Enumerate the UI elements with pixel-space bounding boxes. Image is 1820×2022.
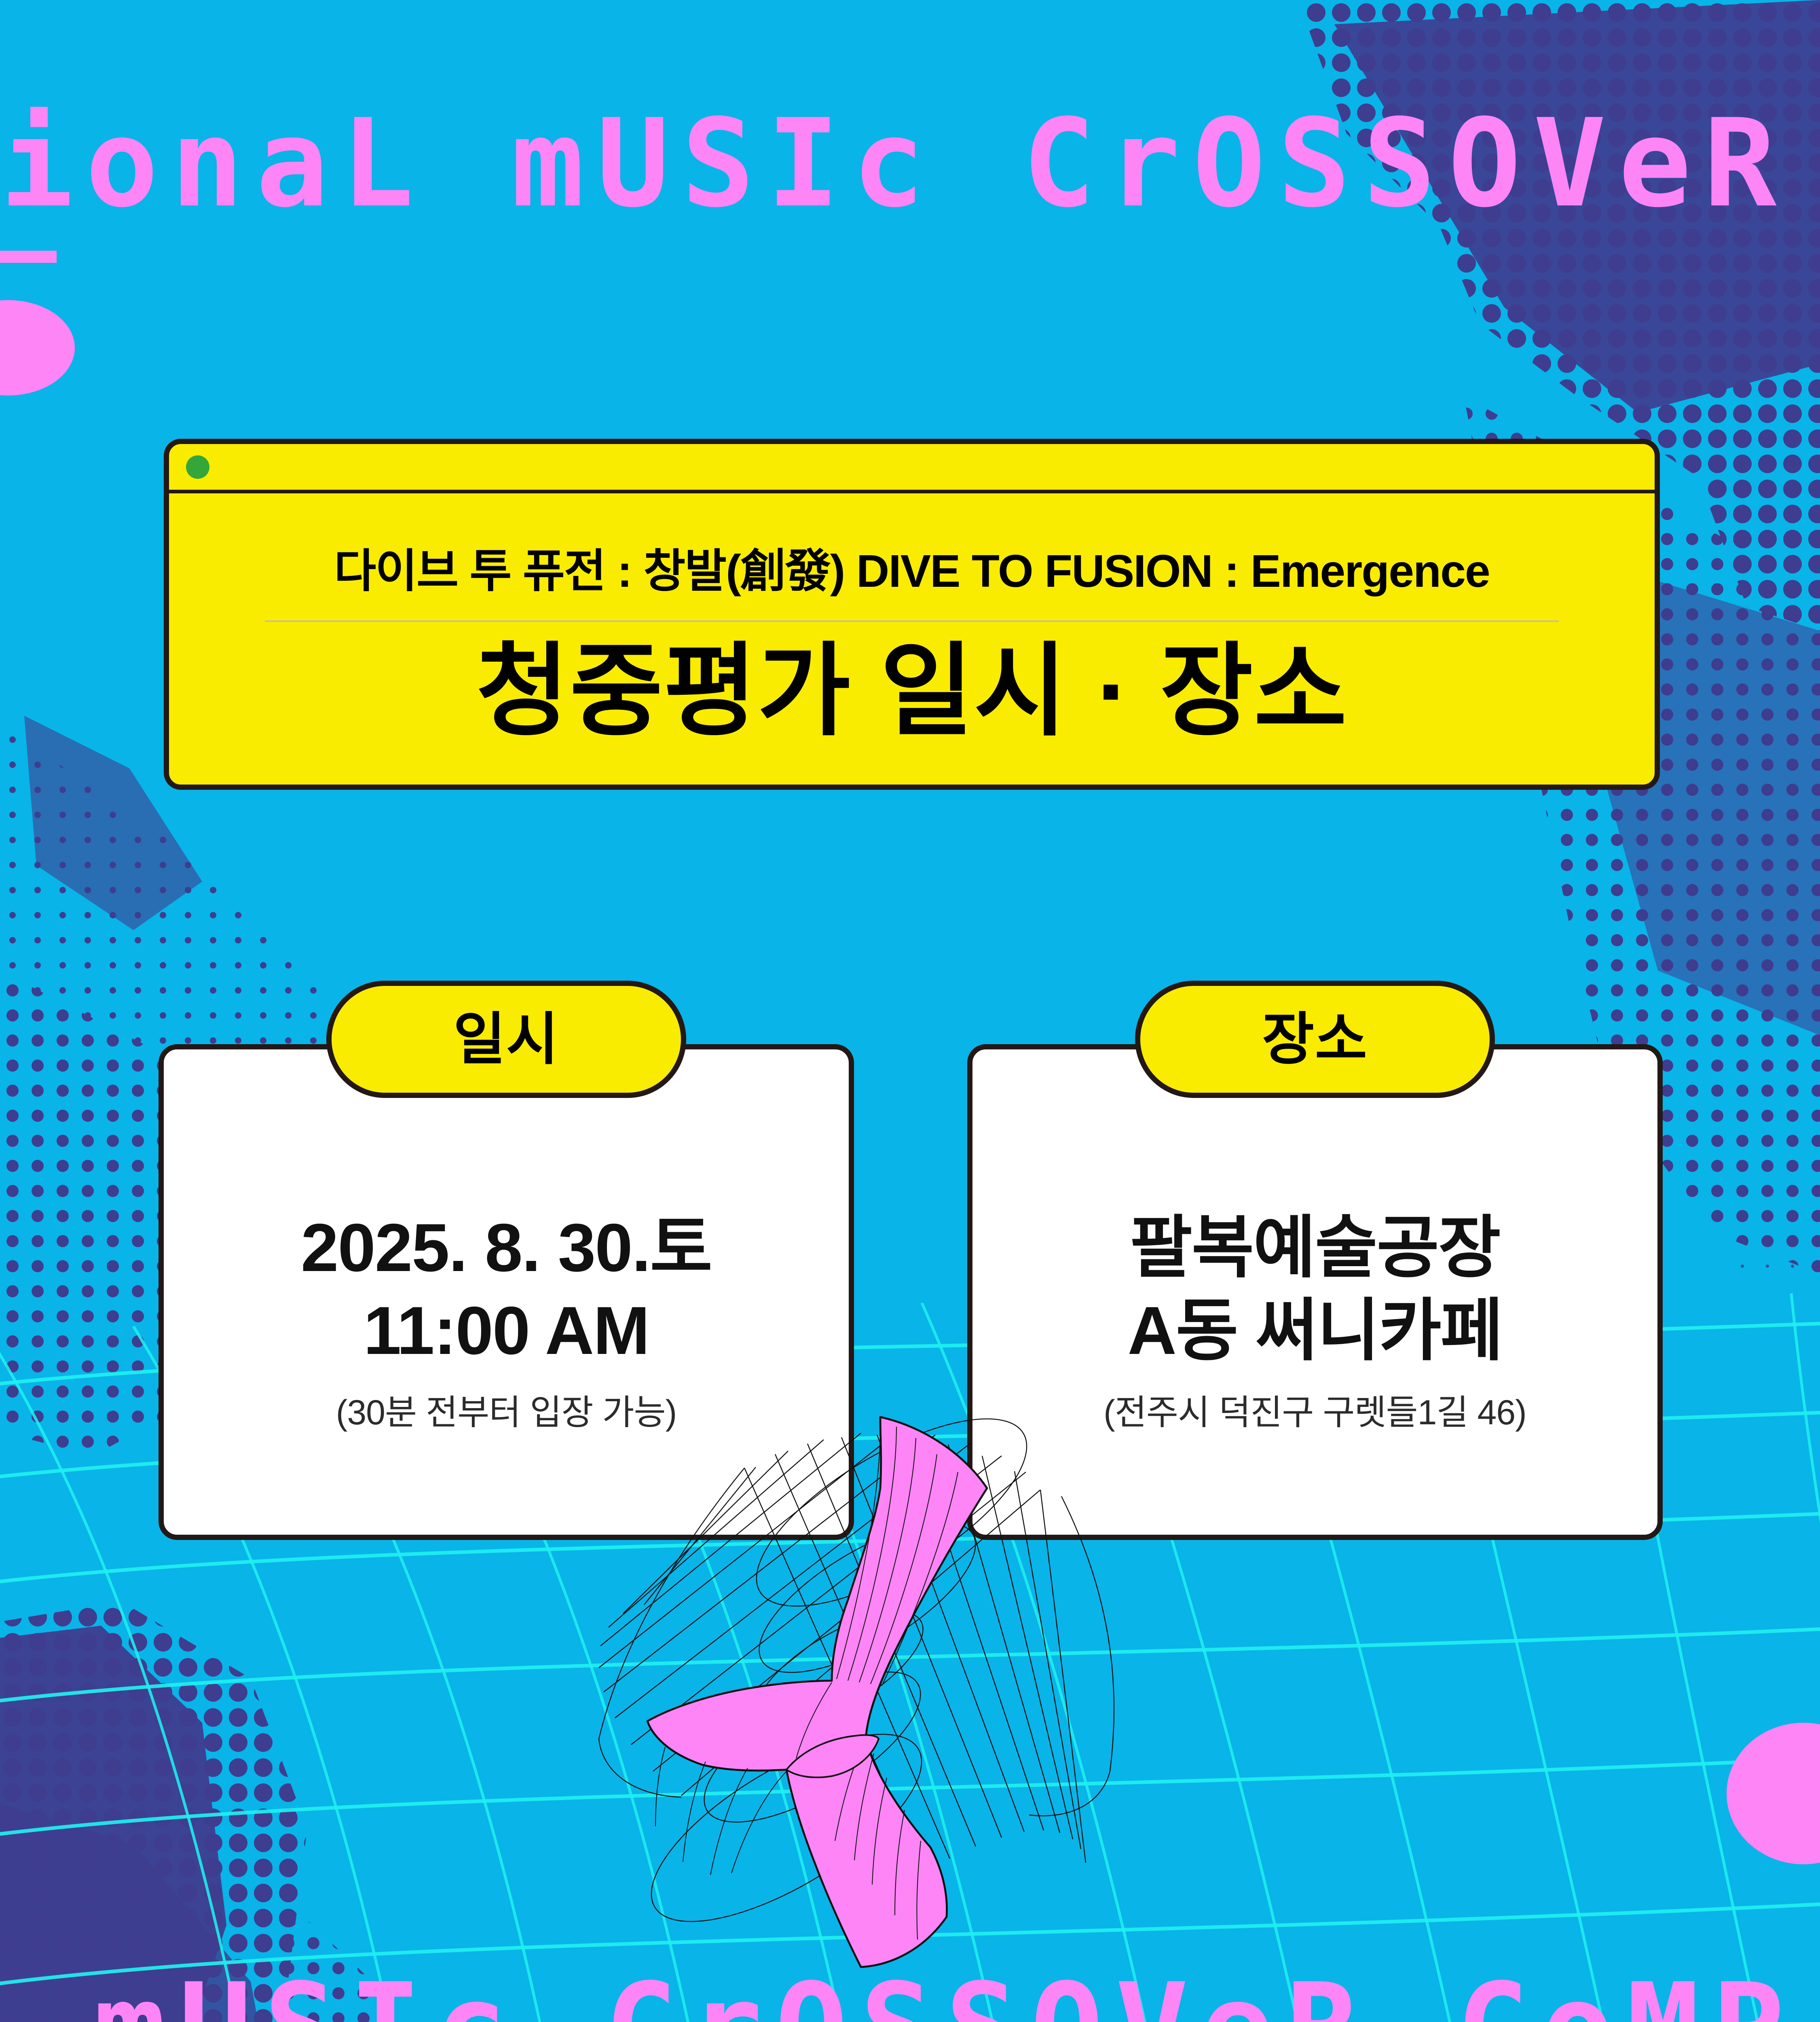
header-subtitle: 다이브 투 퓨전 : 창발(創發) DIVE TO FUSION : Emerg… xyxy=(334,534,1490,600)
tab-venue-label: 장소 xyxy=(1262,1011,1368,1068)
venue-note: (전주시 덕진구 구렛들1길 46) xyxy=(1103,1384,1526,1434)
header-card: 다이브 투 퓨전 : 창발(創發) DIVE TO FUSION : Emerg… xyxy=(164,439,1660,790)
page-title: 청중평가 일시 · 장소 xyxy=(476,638,1348,745)
date-line-1: 2025. 8. 30.토 xyxy=(301,1206,712,1289)
venue-line-1: 팔복예술공장 xyxy=(1130,1206,1500,1289)
date-line-2: 11:00 AM xyxy=(364,1289,649,1372)
info-column-date: 일시 2025. 8. 30.토 11:00 AM (30분 전부터 입장 가능… xyxy=(159,1044,854,1540)
info-column-venue: 장소 팔복예술공장 A동 써니카페 (전주시 덕진구 구렛들1길 46) xyxy=(967,1044,1663,1540)
header-card-body: 다이브 투 퓨전 : 창발(創發) DIVE TO FUSION : Emerg… xyxy=(169,493,1655,785)
tab-date: 일시 xyxy=(326,981,686,1098)
header-divider xyxy=(265,620,1559,622)
green-status-dot xyxy=(186,455,209,479)
poster-canvas: tionaL mUSIc CrOSSOVeR 다이브 투 퓨전 : 창발(創發)… xyxy=(0,0,1820,2022)
background-decoration xyxy=(0,0,1820,2022)
tab-date-label: 일시 xyxy=(453,1011,559,1068)
venue-line-2: A동 써니카페 xyxy=(1128,1289,1503,1372)
info-card-date: 일시 2025. 8. 30.토 11:00 AM (30분 전부터 입장 가능… xyxy=(159,1044,854,1540)
tab-venue: 장소 xyxy=(1135,981,1495,1098)
header-card-titlebar xyxy=(169,444,1655,493)
date-note: (30분 전부터 입장 가능) xyxy=(336,1384,677,1434)
info-card-venue: 장소 팔복예술공장 A동 써니카페 (전주시 덕진구 구렛들1길 46) xyxy=(967,1044,1663,1540)
